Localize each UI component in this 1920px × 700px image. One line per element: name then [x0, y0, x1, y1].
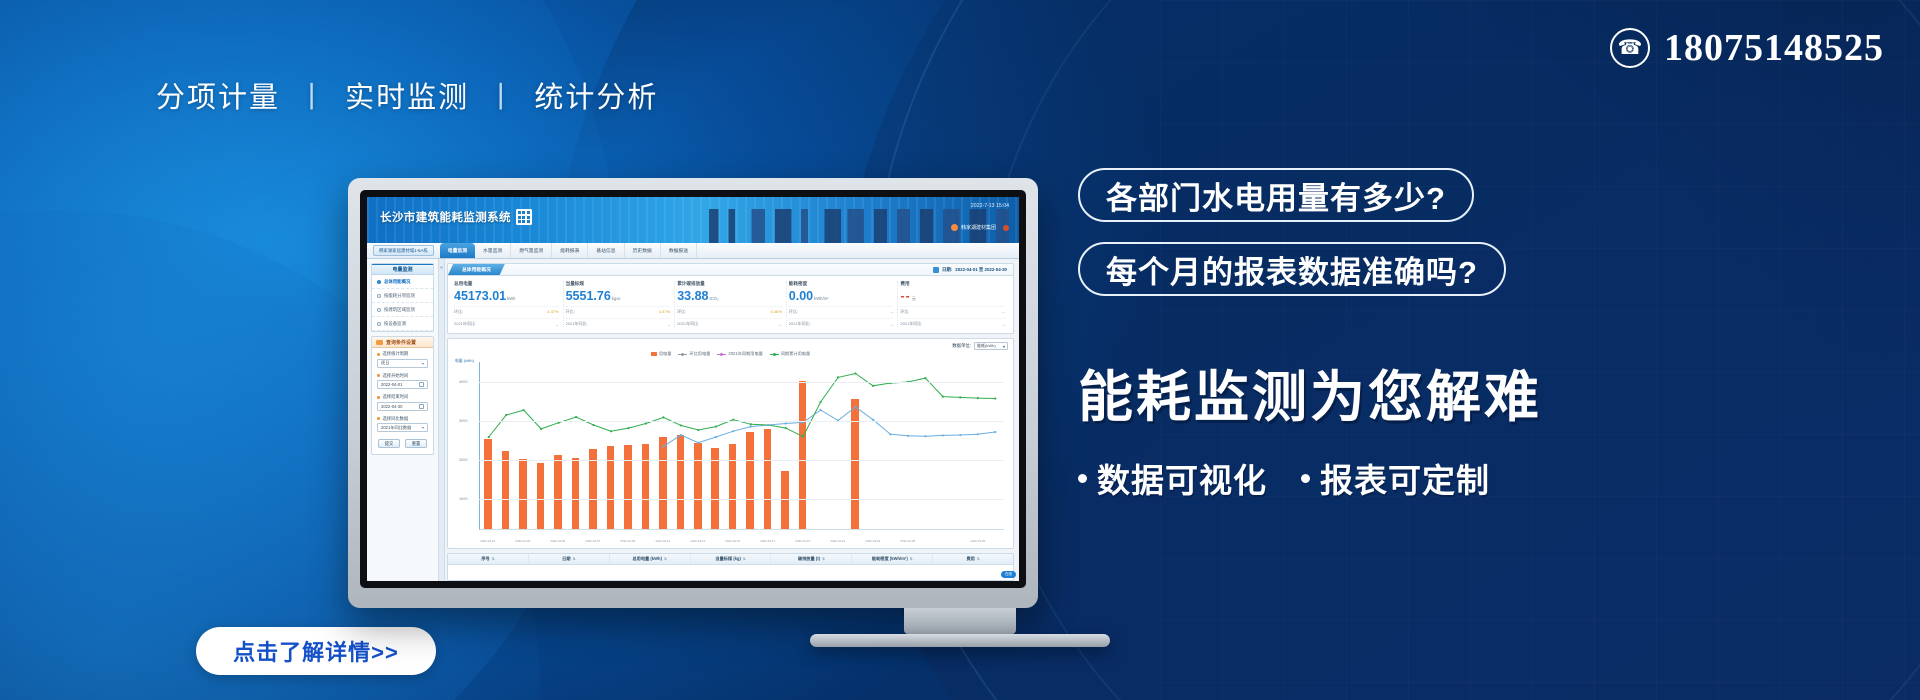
kpi-yoy-value: -- [779, 322, 782, 327]
overview-panel: 总体用能概况 日期: 2022-04-01 至 2022-04-30 总用电量 [447, 263, 1014, 334]
field-yoy-label: 选择同比数据 [383, 416, 409, 422]
sort-icon[interactable]: ⇅ [910, 557, 913, 561]
kpi-compare-value: 4.46% [770, 309, 781, 314]
table-column-label: 碳排放量 (t) [798, 556, 820, 562]
calendar-icon[interactable] [419, 404, 424, 409]
field-yoy-label-row: 选择同比数据 [377, 416, 428, 422]
table-column-label: 能耗密度 (kWh/m²) [872, 556, 908, 562]
kpi-cost-value: --元 [900, 290, 1005, 303]
kpi-carbon-emission-value: 33.88tCO₂ [677, 290, 782, 303]
chart-x-tick: 2022-04-11 [655, 539, 670, 543]
field-period-label: 选择统计周期 [383, 351, 409, 357]
kpi-carbon-emission-label: 累计碳排放量 [677, 281, 782, 287]
kpi-energy-density: 能耗密度 0.00kWh/m² 环比: -- 20 [789, 281, 899, 327]
nav-tab-water[interactable]: 水量监测 [475, 243, 511, 258]
query-settings-title: 查询条件设置 [386, 339, 416, 346]
sidebar-item-by-device-label: 按设备监测 [384, 321, 406, 327]
calendar-icon [933, 267, 939, 273]
period-select[interactable]: 逐日 ▾ [377, 359, 428, 368]
chart-gridline [479, 421, 1004, 422]
legend-swatch-icon [717, 354, 726, 355]
kpi-compare-label: 环比: [677, 309, 686, 315]
kpi-compare-value: 4.47% [547, 309, 558, 314]
sort-icon[interactable]: ⇅ [573, 557, 576, 561]
nav-tab-electricity[interactable]: 电量监测 [440, 243, 475, 258]
sort-icon[interactable]: ⇅ [743, 557, 746, 561]
yoy-select[interactable]: 2021年同比数据 ▾ [377, 423, 428, 432]
app-sidebar: 电量监测 总体用能概况 按能耗分项监测 按建筑区域监 [367, 259, 439, 581]
sidebar-item-by-category[interactable]: 按能耗分项监测 [372, 289, 433, 303]
unit-select-value: 能耗(kWh) [977, 343, 996, 349]
table-column-header[interactable]: 当量标煤 (kg)⇅ [691, 554, 772, 564]
app-user-label: 韩家湖建材集团 [961, 224, 996, 231]
yoy-select-value: 2021年同比数据 [381, 425, 411, 431]
kpi-row: 总用电量 45173.01kWh 环比: 4.47% [448, 276, 1013, 333]
chart-y-tick: 1000 [459, 497, 467, 501]
nav-tab-history[interactable]: 历史数据 [625, 243, 661, 258]
chevron-down-icon: ▾ [422, 361, 424, 366]
field-start-date-label: 选择开始时间 [383, 373, 409, 379]
table-column-label: 费用 [966, 556, 974, 562]
kpi-compare-value: -- [891, 309, 894, 314]
kpi-yoy-label: 2021年同比: [677, 321, 699, 327]
table-column-header[interactable]: 费用⇅ [933, 554, 1013, 564]
legend-swatch-icon [651, 352, 657, 356]
kpi-compare-row: 环比: 4.46% [677, 306, 782, 315]
logout-icon[interactable] [1003, 225, 1009, 231]
sidebar-item-overview[interactable]: 总体用能概况 [372, 275, 433, 289]
kpi-yoy-label: 2021年同比: [789, 321, 811, 327]
phone-icon: ☎ [1610, 28, 1650, 68]
chart-gridline [479, 499, 1004, 500]
submit-button[interactable]: 提交 [378, 439, 400, 448]
kpi-yoy-label: 2021年同比: [566, 321, 588, 327]
field-end-date-label-row: 选择结束时间 [377, 394, 428, 400]
feature-bullet-2-label: 报表可定制 [1320, 454, 1490, 502]
legend-swatch-icon [770, 354, 779, 355]
panel-date-label: 日期: [942, 267, 952, 273]
panel-date-range-value: 2022-04-01 至 2022-04-30 [955, 267, 1007, 273]
app-main-content: 总体用能概况 日期: 2022-04-01 至 2022-04-30 总用电量 [445, 259, 1019, 581]
end-date-value: 2022-04-30 [381, 404, 402, 409]
table-column-header[interactable]: 日期⇅ [529, 554, 610, 564]
phone-contact[interactable]: ☎ 18075148525 [1610, 26, 1884, 70]
nav-tab-reports[interactable]: 能耗报表 [552, 243, 588, 258]
sort-icon[interactable]: ⇅ [664, 557, 667, 561]
learn-more-button[interactable]: 点击了解详情>> [196, 627, 436, 675]
chart-bars-container [479, 362, 1004, 530]
bullet-icon [377, 280, 381, 284]
monitor-base [810, 634, 1110, 647]
field-yoy: 选择同比数据 2021年同比数据 ▾ [372, 413, 433, 435]
app-header: 长沙市建筑能耗监测系统 2022-7-13 15:04 韩家湖建材集团 [367, 197, 1019, 243]
table-column-label: 日期 [562, 556, 570, 562]
question-pill-1: 各部门水电用量有多少? [1078, 168, 1474, 222]
chart-x-tick: 2022-04-01 [480, 539, 495, 543]
kpi-unit: kWh/m² [814, 296, 828, 301]
tagline-part-1: 分项计量 [156, 82, 280, 114]
chart-x-tick: 2022-04-05 [550, 539, 565, 543]
chart-gridline [479, 460, 1004, 461]
kpi-compare-label: 环比: [789, 309, 798, 315]
kpi-unit: kgce [612, 296, 621, 301]
kpi-total-electricity-value: 45173.01kWh [454, 290, 559, 303]
start-date-value: 2022-04-01 [381, 382, 402, 387]
chart-x-tick: 2022-04-13 [690, 539, 705, 543]
kpi-compare-row: 环比: -- [789, 306, 894, 315]
required-icon [377, 353, 380, 356]
kpi-unit: 元 [912, 296, 917, 301]
bullet-dot-icon [1301, 474, 1310, 483]
end-date-input[interactable]: 2022-04-30 [377, 402, 428, 411]
kpi-value-number: 45173.01 [454, 289, 506, 303]
unit-select-label: 数据单位: [952, 343, 971, 349]
energy-chart-panel: 数据单位: 能耗(kWh) ▾ 用电量环比用电量2021年同期用电量同期累计用电… [447, 338, 1014, 549]
kpi-yoy-value: -- [668, 322, 671, 327]
sidebar-menu-card: 电量监测 总体用能概况 按能耗分项监测 按建筑区域监 [371, 263, 434, 332]
table-column-header[interactable]: 序号⇅ [448, 554, 529, 564]
kpi-compare-label: 环比: [454, 309, 463, 315]
kpi-compare-row: 环比: 4.47% [454, 306, 559, 315]
field-start-date: 选择开始时间 2022-04-01 [372, 370, 433, 392]
chart-legend-label: 同期累计用电量 [781, 351, 810, 357]
kpi-compare-label: 环比: [900, 309, 909, 315]
bullet-dot-icon [1078, 474, 1087, 483]
required-icon [377, 417, 380, 420]
sidebar-section-title: 电量监测 [372, 264, 433, 275]
chart-x-tick: 2022-04-19 [795, 539, 810, 543]
monitor-stand [904, 608, 1016, 634]
table-body [448, 565, 1013, 581]
app-brand: 长沙市建筑能耗监测系统 [380, 209, 532, 225]
chart-legend-label: 用电量 [659, 351, 672, 357]
chart-plot-area: 电量 (kWh) 2022-04-012022-04-032022-04-052… [453, 360, 1008, 546]
bullet-icon [377, 322, 381, 326]
nav-tab-data-submit[interactable]: 数据报送 [661, 243, 697, 258]
query-settings-title-row: 查询条件设置 [372, 337, 433, 348]
reset-button[interactable]: 重置 [405, 439, 427, 448]
kpi-energy-density-value: 0.00kWh/m² [789, 290, 894, 303]
chart-legend-item[interactable]: 同期累计用电量 [770, 351, 810, 357]
tagline-separator-2: 丨 [486, 82, 517, 114]
kpi-yoy-value: -- [556, 322, 559, 327]
kpi-compare-label: 环比: [566, 309, 575, 315]
chart-y-tick: 2000 [459, 458, 467, 462]
sidebar-item-by-zone[interactable]: 按建筑区域监测 [372, 303, 433, 317]
kpi-compare-row: 环比: 4.47% [566, 306, 671, 315]
chevron-down-icon: ▾ [422, 425, 424, 430]
kpi-value-number: -- [900, 289, 910, 303]
chart-x-labels: 2022-04-012022-04-032022-04-052022-04-07… [479, 531, 1004, 546]
marketing-headline: 能耗监测为您解难 [1078, 352, 1778, 432]
promo-banner: 分项计量 丨 实时监测 丨 统计分析 ☎ 18075148525 点击了解详情>… [0, 0, 1920, 700]
project-selector-chip[interactable]: 韩家湖家居建材城1-5A栋 [373, 245, 434, 256]
field-end-date-label: 选择结束时间 [383, 394, 409, 400]
tagline-part-2: 实时监测 [345, 82, 469, 114]
kpi-unit: tCO₂ [709, 296, 718, 301]
kpi-yoy-label: 2021年同比: [454, 321, 476, 327]
app-body: 电量监测 总体用能概况 按能耗分项监测 按建筑区域监 [367, 259, 1019, 581]
app-datetime: 2022-7-13 15:04 [971, 203, 1009, 209]
kpi-compare-row: 环比: -- [900, 306, 1005, 315]
question-pill-2: 每个月的报表数据准确吗? [1078, 242, 1506, 296]
app-title: 长沙市建筑能耗监测系统 [380, 209, 511, 225]
kpi-yoy-row: 2021年同比: -- [677, 318, 782, 327]
kpi-yoy-row: 2021年同比: -- [454, 318, 559, 327]
online-status-badge[interactable]: 在线 [1001, 571, 1016, 578]
energy-monitoring-app: 长沙市建筑能耗监测系统 2022-7-13 15:04 韩家湖建材集团 韩家湖家 [367, 197, 1019, 581]
marketing-copy: 各部门水电用量有多少? 每个月的报表数据准确吗? 能耗监测为您解难 数据可视化 … [1078, 168, 1778, 502]
phone-number: 18075148525 [1664, 26, 1884, 70]
kpi-value-number: 5551.76 [566, 289, 611, 303]
chart-x-tick: 2022-04-07 [585, 539, 600, 543]
table-column-header[interactable]: 碳排放量 (t)⇅ [771, 554, 852, 564]
sort-icon[interactable]: ⇅ [977, 557, 980, 561]
table-header-row: 序号⇅日期⇅总用电量 (kWh)⇅当量标煤 (kg)⇅碳排放量 (t)⇅能耗密度… [448, 554, 1013, 565]
kpi-energy-density-label: 能耗密度 [789, 281, 894, 287]
table-column-header[interactable]: 能耗密度 (kWh/m²)⇅ [852, 554, 933, 564]
table-column-label: 当量标煤 (kg) [715, 556, 741, 562]
table-column-label: 序号 [481, 556, 489, 562]
query-settings-card: 查询条件设置 选择统计周期 逐日 ▾ [371, 336, 434, 455]
query-action-buttons: 提交 重置 [372, 434, 433, 454]
field-start-date-label-row: 选择开始时间 [377, 373, 428, 379]
kpi-total-electricity-label: 总用电量 [454, 281, 559, 287]
chart-x-tick: 2022-04-23 [865, 539, 880, 543]
chart-x-tick: 2022-04-17 [760, 539, 775, 543]
chart-x-tick: 2022-04-21 [830, 539, 845, 543]
kpi-total-electricity: 总用电量 45173.01kWh 环比: 4.47% [454, 281, 564, 327]
sort-icon[interactable]: ⇅ [822, 557, 825, 561]
kpi-yoy-label: 2021年同比: [900, 321, 922, 327]
tagline-separator-1: 丨 [297, 82, 328, 114]
chart-legend-label: 2021年同期用电量 [728, 351, 762, 357]
bullet-icon [377, 308, 381, 312]
feature-bullet-2: 报表可定制 [1301, 454, 1490, 502]
period-select-value: 逐日 [381, 360, 389, 366]
monitor-mockup: 长沙市建筑能耗监测系统 2022-7-13 15:04 韩家湖建材集团 韩家湖家 [348, 178, 1038, 608]
table-column-header[interactable]: 总用电量 (kWh)⇅ [610, 554, 691, 564]
chart-line-series [480, 362, 1004, 535]
kpi-unit: kWh [507, 296, 515, 301]
chart-legend-item[interactable]: 用电量 [651, 351, 672, 357]
kpi-value-number: 0.00 [789, 289, 813, 303]
chart-y-tick: 4000 [459, 380, 467, 384]
overview-panel-header: 总体用能概况 日期: 2022-04-01 至 2022-04-30 [448, 264, 1013, 276]
kpi-cost-label: 费用 [900, 281, 1005, 287]
chart-x-tick: 2022-04-29 [970, 539, 985, 543]
sidebar-item-by-category-label: 按能耗分项监测 [384, 293, 415, 299]
chart-x-tick: 2022-04-25 [900, 539, 915, 543]
required-icon [377, 374, 380, 377]
kpi-yoy-value: -- [1002, 322, 1005, 327]
feature-bullet-1: 数据可视化 [1078, 454, 1267, 502]
chart-x-tick: 2022-04-03 [515, 539, 530, 543]
chart-y-axis-title: 电量 (kWh) [455, 359, 474, 364]
required-icon [377, 396, 380, 399]
sidebar-item-by-device[interactable]: 按设备监测 [372, 317, 433, 331]
chart-legend-item[interactable]: 环比用电量 [678, 351, 710, 357]
energy-data-table: 序号⇅日期⇅总用电量 (kWh)⇅当量标煤 (kg)⇅碳排放量 (t)⇅能耗密度… [447, 553, 1014, 581]
sidebar-item-by-zone-label: 按建筑区域监测 [384, 307, 415, 313]
chart-legend[interactable]: 用电量环比用电量2021年同期用电量同期累计用电量 [453, 351, 1008, 357]
kpi-value-number: 33.88 [677, 289, 708, 303]
banner-tagline: 分项计量 丨 实时监测 丨 统计分析 [156, 74, 658, 116]
chart-toolbar: 数据单位: 能耗(kWh) ▾ [453, 342, 1008, 350]
chevron-down-icon: ▾ [1003, 344, 1005, 349]
overview-panel-tab[interactable]: 总体用能概况 [448, 264, 505, 275]
kpi-yoy-row: 2021年同比: -- [566, 318, 671, 327]
start-date-input[interactable]: 2022-04-01 [377, 380, 428, 389]
chart-legend-label: 环比用电量 [689, 351, 710, 357]
chart-x-tick: 2022-04-09 [620, 539, 635, 543]
app-user-block[interactable]: 韩家湖建材集团 [951, 224, 1009, 231]
field-period-label-row: 选择统计周期 [377, 351, 428, 357]
sort-icon[interactable]: ⇅ [492, 557, 495, 561]
nav-tab-station-info[interactable]: 基站信息 [588, 243, 624, 258]
app-nav-tabs[interactable]: 韩家湖家居建材城1-5A栋 电量监测 水量监测 燃气量监测 能耗报表 基站信息 … [367, 243, 1019, 259]
feature-bullet-1-label: 数据可视化 [1097, 454, 1267, 502]
tagline-part-3: 统计分析 [534, 82, 658, 114]
field-end-date: 选择结束时间 2022-04-30 [372, 391, 433, 413]
speech-bubble-icon [376, 340, 383, 345]
bullet-icon [377, 294, 381, 298]
feature-bullets: 数据可视化 报表可定制 [1078, 454, 1778, 502]
chart-y-tick: 3000 [459, 419, 467, 423]
legend-swatch-icon [678, 354, 687, 355]
chart-legend-item[interactable]: 2021年同期用电量 [717, 351, 762, 357]
sidebar-item-overview-label: 总体用能概况 [384, 279, 410, 285]
table-column-label: 总用电量 (kWh) [632, 556, 662, 562]
nav-tab-gas[interactable]: 燃气量监测 [511, 243, 552, 258]
kpi-compare-value: -- [1002, 309, 1005, 314]
field-period: 选择统计周期 逐日 ▾ [372, 348, 433, 370]
chart-x-tick: 2022-04-15 [725, 539, 740, 543]
panel-date-range: 日期: 2022-04-01 至 2022-04-30 [933, 264, 1013, 275]
kpi-yoy-value: -- [891, 322, 894, 327]
building-logo-icon [516, 209, 532, 225]
unit-select[interactable]: 能耗(kWh) ▾ [974, 342, 1008, 350]
kpi-standard-coal: 当量标煤 5551.76kgce 环比: 4.47% [566, 281, 676, 327]
kpi-standard-coal-label: 当量标煤 [566, 281, 671, 287]
kpi-compare-value: 4.47% [659, 309, 670, 314]
calendar-icon[interactable] [419, 382, 424, 387]
kpi-carbon-emission: 累计碳排放量 33.88tCO₂ 环比: 4.46% [677, 281, 787, 327]
kpi-cost: 费用 --元 环比: -- 2021年同比: [900, 281, 1009, 327]
monitor-bezel: 长沙市建筑能耗监测系统 2022-7-13 15:04 韩家湖建材集团 韩家湖家 [360, 190, 1026, 588]
chart-gridline [479, 382, 1004, 383]
user-avatar-icon [951, 224, 958, 231]
kpi-yoy-row: 2021年同比: -- [789, 318, 894, 327]
kpi-standard-coal-value: 5551.76kgce [566, 290, 671, 303]
kpi-yoy-row: 2021年同比: -- [900, 318, 1005, 327]
